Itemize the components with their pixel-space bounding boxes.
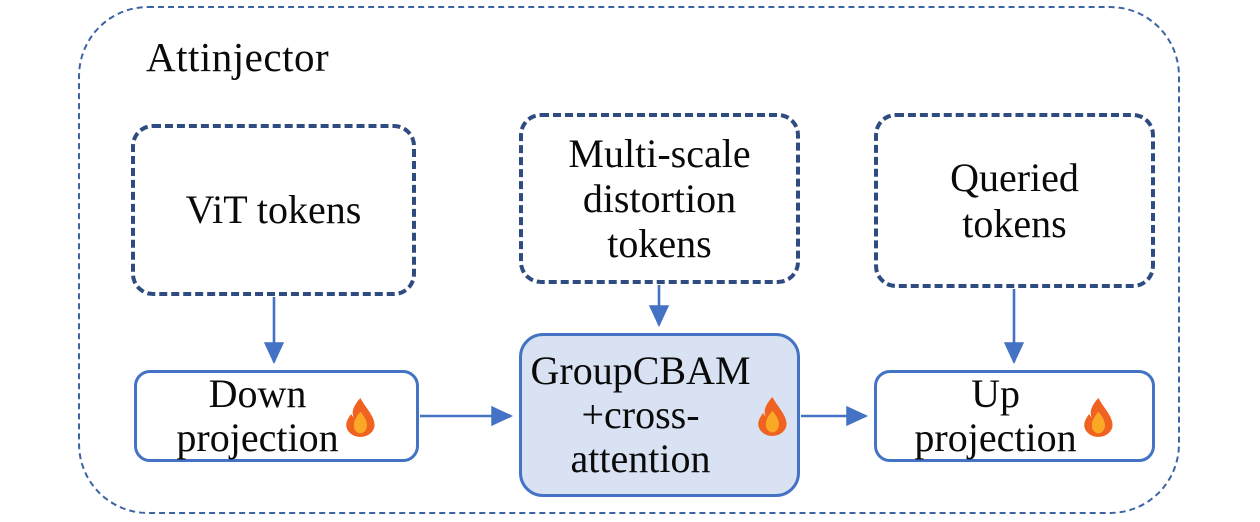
node-groupcbam-cross-attention-label: GroupCBAM +cross- attention (530, 349, 750, 481)
node-up-projection-label: Up projection (914, 372, 1076, 460)
page-title: Attinjector (146, 36, 329, 79)
node-multiscale-distortion-tokens[interactable]: Multi-scale distortion tokens (519, 113, 800, 284)
node-up-projection[interactable]: Up projection (874, 370, 1155, 462)
node-vit-tokens[interactable]: ViT tokens (131, 124, 416, 296)
flame-icon (1082, 398, 1115, 435)
node-vit-tokens-label: ViT tokens (186, 187, 362, 232)
flame-icon (344, 398, 377, 435)
node-queried-tokens[interactable]: Queried tokens (874, 113, 1155, 288)
node-queried-tokens-label: Queried tokens (950, 155, 1079, 245)
node-down-projection[interactable]: Down projection (134, 370, 419, 462)
node-groupcbam-cross-attention[interactable]: GroupCBAM +cross- attention (519, 333, 800, 497)
flame-icon (756, 397, 789, 434)
node-down-projection-label: Down projection (176, 372, 338, 460)
node-multiscale-distortion-tokens-label: Multi-scale distortion tokens (568, 131, 750, 267)
diagram-canvas: Attinjector ViT tokens Multi-scale disto… (0, 0, 1260, 522)
